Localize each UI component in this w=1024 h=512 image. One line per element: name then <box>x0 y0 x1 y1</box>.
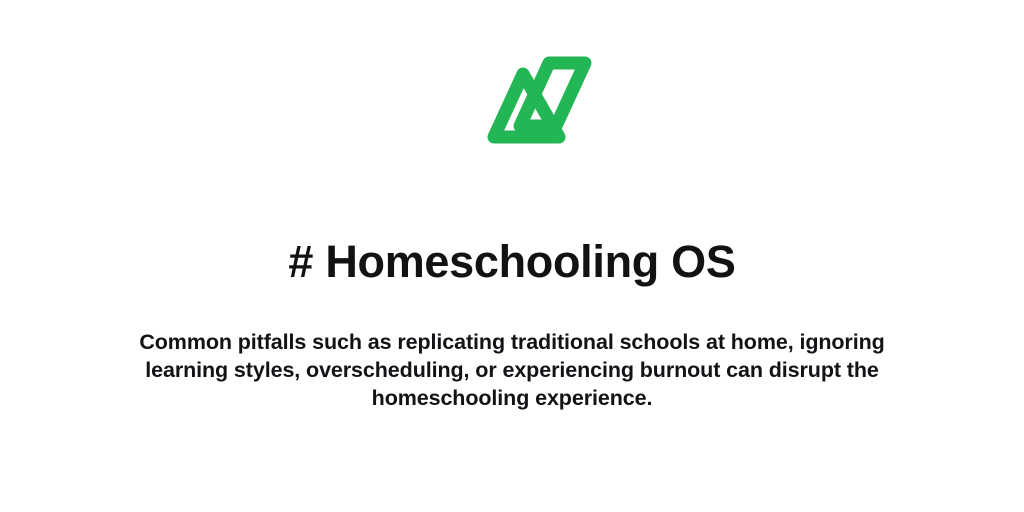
brand-logo <box>473 54 599 146</box>
page-title: # Homeschooling OS <box>0 233 1024 291</box>
slide-canvas: # Homeschooling OS Common pitfalls such … <box>0 0 1024 512</box>
brand-logo-icon <box>473 54 599 146</box>
body-paragraph: Common pitfalls such as replicating trad… <box>130 328 894 412</box>
